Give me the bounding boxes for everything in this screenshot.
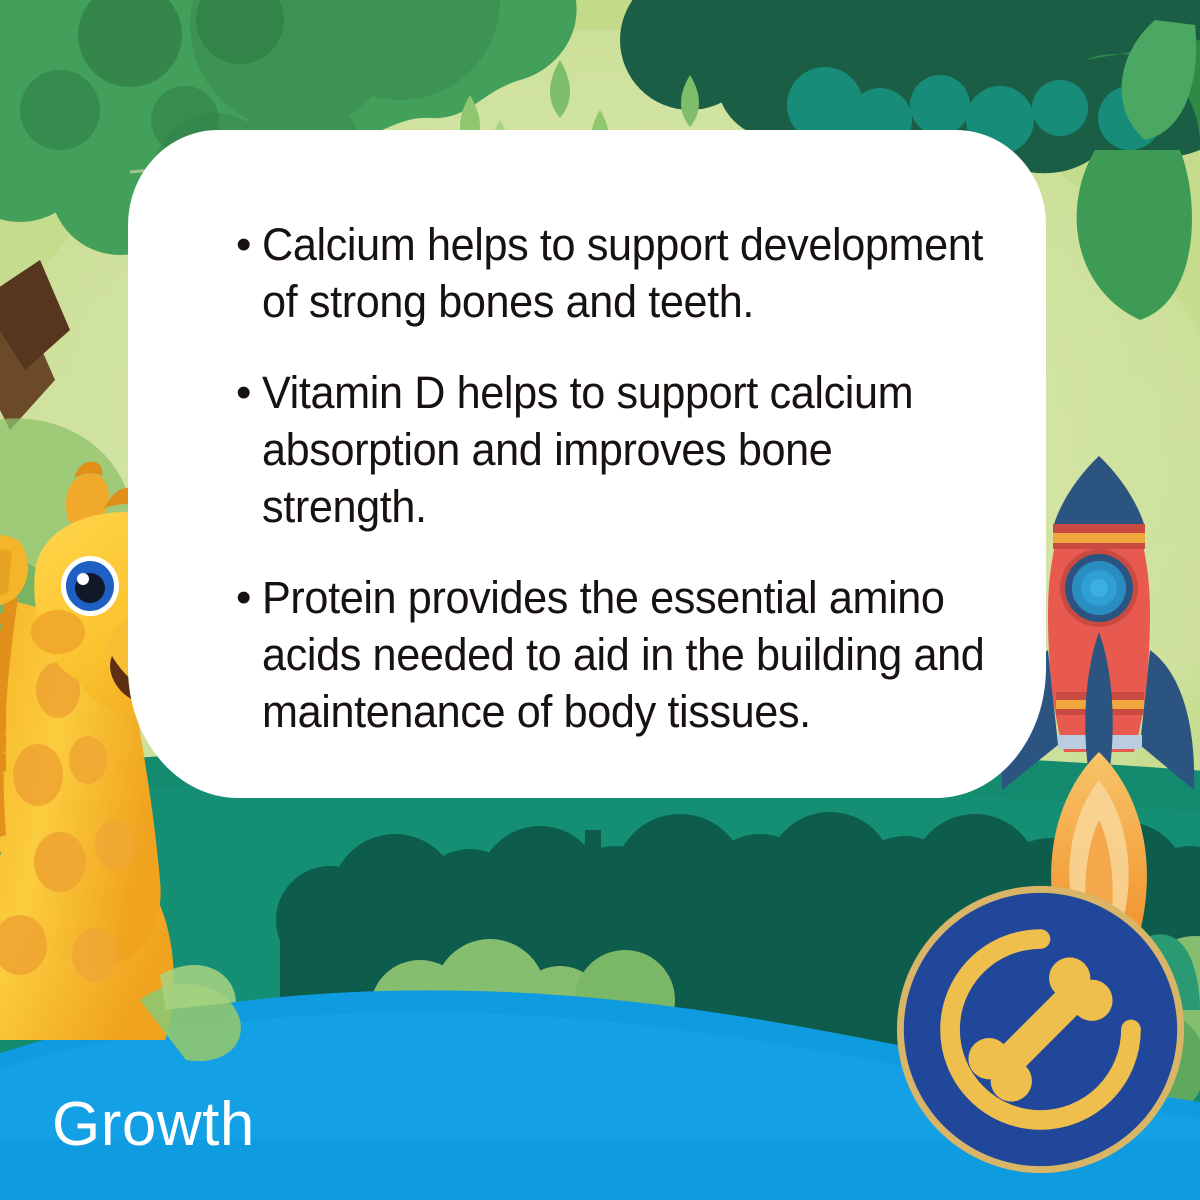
footer-title-wrap: Growth: [52, 1092, 255, 1158]
bullet-marker-icon: •: [236, 216, 262, 273]
bullet-list: • Calcium helps to support development o…: [236, 216, 1026, 740]
bullet-text: Protein provides the essential amino aci…: [262, 569, 995, 740]
poster-canvas: • Calcium helps to support development o…: [0, 0, 1200, 1200]
bullet-text: Vitamin D helps to support calcium absor…: [262, 364, 995, 535]
bullet-marker-icon: •: [236, 569, 262, 626]
list-item: • Protein provides the essential amino a…: [236, 569, 1026, 740]
page-title: Growth: [52, 1092, 255, 1158]
content-card: • Calcium helps to support development o…: [128, 130, 1046, 798]
bullet-marker-icon: •: [236, 364, 262, 421]
bullet-text: Calcium helps to support development of …: [262, 216, 995, 330]
list-item: • Vitamin D helps to support calcium abs…: [236, 364, 1026, 535]
list-item: • Calcium helps to support development o…: [236, 216, 1026, 330]
growth-badge[interactable]: [893, 882, 1188, 1177]
